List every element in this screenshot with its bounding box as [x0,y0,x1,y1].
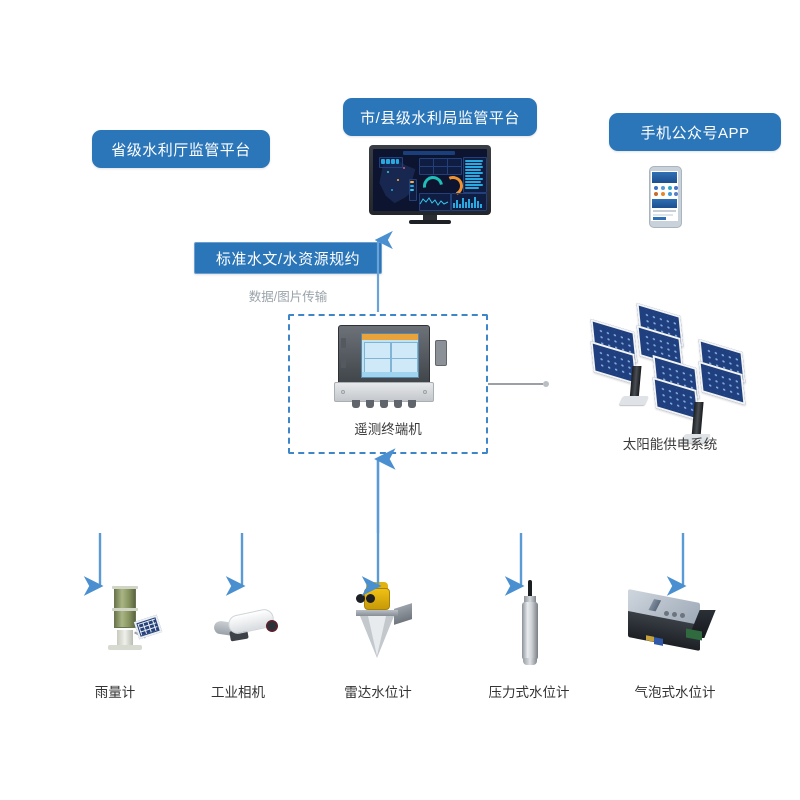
bubbler-port [654,637,663,646]
rtu-lcd-screen [361,333,419,378]
phone-screen [651,171,678,221]
sensor-pressure-level-gauge [472,578,592,668]
protocol-box-label: 标准水文/水资源规约 [216,248,360,269]
solar-pole-base [619,396,649,405]
sensor-bubbler-level-gauge-label: 气泡式水位计 [595,681,755,701]
solar-label-text: 太阳能供电系统 [623,437,718,452]
rain-gauge-neck [117,630,133,646]
sensor-label-text: 压力式水位计 [489,685,570,700]
solar-label: 太阳能供电系统 [595,433,745,453]
transmission-note: 数据/图片传输 [228,286,348,305]
sensor-label-text: 气泡式水位计 [635,685,716,700]
pressure-probe-tip [523,658,537,665]
pressure-probe-body [522,602,538,660]
solar-pole [630,366,642,400]
radar-knob [356,594,365,603]
diagram-canvas: 省级水利厅监管平台 市/县级水利局监管平台 手机公众号APP [0,0,800,800]
node-mobile-app[interactable]: 手机公众号APP [609,113,781,151]
rain-gauge-base [108,645,142,650]
rtu-antenna-tip [543,381,549,387]
rtu-connector-port [435,340,447,366]
node-provincial-platform[interactable]: 省级水利厅监管平台 [92,130,270,168]
node-mobile-app-label: 手机公众号APP [640,122,749,143]
monitor-screen [373,149,487,211]
phone-illustration [649,166,682,228]
camera-lens [265,619,279,633]
radar-knob [366,594,375,603]
transmission-note-label: 数据/图片传输 [249,290,327,304]
rtu-label-text: 遥测终端机 [354,422,422,437]
sensor-radar-level-gauge-label: 雷达水位计 [298,681,458,701]
node-provincial-platform-label: 省级水利厅监管平台 [111,139,251,160]
rain-gauge-solar-panel [134,615,162,640]
sensor-label-text: 工业相机 [211,685,265,700]
sensor-industrial-camera-label: 工业相机 [158,681,318,701]
rtu-illustration [330,325,442,407]
sensor-pressure-level-gauge-label: 压力式水位计 [449,681,609,701]
monitor-illustration [369,145,491,225]
rtu-lower-housing [334,382,434,402]
sensor-industrial-camera [192,588,312,678]
sensor-bubbler-level-gauge [610,580,730,670]
protocol-box[interactable]: 标准水文/水资源规约 [194,242,382,274]
rtu-enclosure [338,325,430,385]
radar-horn-highlight [368,616,386,656]
sensor-label-text: 雨量计 [95,685,136,700]
sensor-rain-gauge [72,578,192,668]
sensor-radar-level-gauge [320,578,440,668]
sensor-label-text: 雷达水位计 [344,685,412,700]
node-municipal-platform-label: 市/县级水利局监管平台 [360,107,520,128]
rtu-label: 遥测终端机 [308,418,468,438]
monitor-base [409,220,451,224]
node-municipal-platform[interactable]: 市/县级水利局监管平台 [343,98,537,136]
